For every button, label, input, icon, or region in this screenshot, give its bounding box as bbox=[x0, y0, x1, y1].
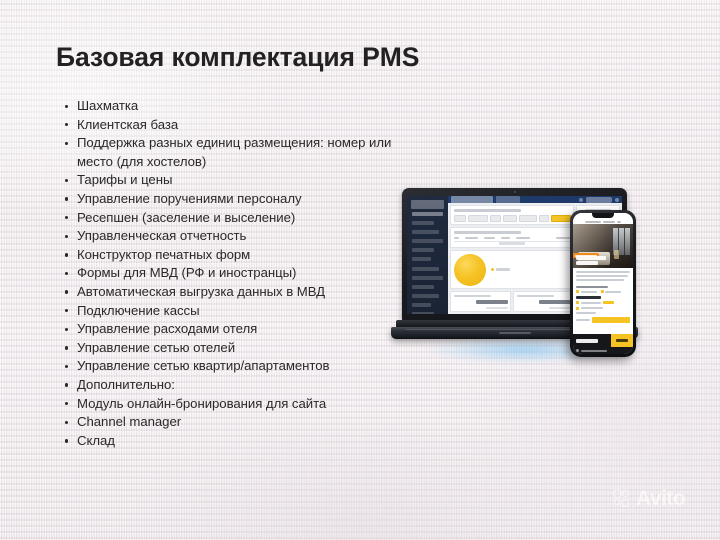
guests-icon bbox=[576, 290, 579, 293]
list-item: Управленческая отчетность bbox=[62, 227, 422, 246]
list-item: Ресепшен (заселение и выселение) bbox=[62, 209, 422, 228]
bookings-table[interactable] bbox=[450, 227, 574, 248]
list-item-label: Управление сетью отелей bbox=[77, 340, 235, 355]
column-header[interactable] bbox=[556, 237, 571, 240]
legend-swatch-icon bbox=[491, 268, 494, 271]
avito-watermark: Avito bbox=[613, 489, 685, 509]
list-item: Тарифы и цены bbox=[62, 171, 422, 190]
filter-chip[interactable] bbox=[468, 215, 488, 222]
list-item-label: Управление расходами отеля bbox=[77, 321, 257, 336]
bullet-icon bbox=[65, 309, 68, 312]
bullet-icon bbox=[65, 328, 68, 331]
revenue-pie-card[interactable] bbox=[450, 250, 574, 289]
bullet-icon bbox=[65, 402, 68, 405]
tag-icon bbox=[576, 349, 579, 352]
column-header[interactable] bbox=[516, 237, 530, 240]
list-item-label: Конструктор печатных форм bbox=[77, 247, 250, 262]
fact-label bbox=[605, 291, 621, 293]
room-facts-row bbox=[576, 290, 630, 293]
device-mockup-scene bbox=[396, 188, 652, 368]
booking-details bbox=[573, 268, 633, 334]
bullet-icon bbox=[65, 235, 68, 238]
list-item: Дополнительно: bbox=[62, 376, 422, 395]
sidebar-item[interactable] bbox=[412, 248, 434, 252]
chevron-down-icon[interactable] bbox=[617, 221, 621, 224]
slide-canvas: Базовая комплектация PMS Шахматка Клиент… bbox=[0, 0, 720, 540]
list-item-label: Клиентская база bbox=[77, 117, 178, 132]
legend-entry bbox=[491, 268, 510, 271]
list-item-label: Управление поручениями персоналу bbox=[77, 191, 302, 206]
date-field-label bbox=[576, 312, 596, 314]
total-price bbox=[573, 339, 611, 343]
room-title-overlay bbox=[576, 256, 606, 266]
legend-label bbox=[496, 268, 510, 271]
phone-notch bbox=[592, 213, 614, 218]
list-item-label: Шахматка bbox=[77, 98, 138, 113]
room-title-line bbox=[576, 256, 606, 260]
filter-panel[interactable] bbox=[450, 205, 574, 225]
list-item-label: Тарифы и цены bbox=[77, 172, 172, 187]
list-item: Управление сетью отелей bbox=[62, 339, 422, 358]
description-line bbox=[576, 271, 630, 273]
list-item: Поддержка разных единиц размещения: номе… bbox=[62, 134, 422, 171]
sidebar-item[interactable] bbox=[412, 312, 434, 314]
sidebar-item[interactable] bbox=[412, 294, 439, 298]
phone-screen bbox=[573, 213, 633, 354]
room-photo[interactable] bbox=[573, 224, 633, 268]
description-line bbox=[576, 279, 624, 281]
bullet-icon bbox=[65, 290, 68, 293]
list-item-label: Подключение кассы bbox=[77, 303, 200, 318]
filter-panel-title bbox=[454, 209, 522, 212]
list-item-label: Channel manager bbox=[77, 414, 181, 429]
list-item: Клиентская база bbox=[62, 116, 422, 135]
sidebar-item[interactable] bbox=[412, 230, 439, 234]
webcam-icon bbox=[514, 191, 516, 193]
pie-chart bbox=[454, 254, 486, 286]
list-item: Склад bbox=[62, 432, 422, 451]
avito-wordmark: Avito bbox=[636, 489, 685, 509]
tab-active[interactable] bbox=[451, 196, 493, 203]
bullet-icon bbox=[65, 346, 68, 349]
bullet-icon bbox=[65, 272, 68, 275]
navbar-subtitle bbox=[603, 221, 615, 224]
list-item: Подключение кассы bbox=[62, 302, 422, 321]
fact-label bbox=[581, 291, 597, 293]
date-picker-button[interactable] bbox=[592, 317, 630, 323]
search-icon[interactable] bbox=[579, 198, 583, 202]
filter-chip[interactable] bbox=[490, 215, 501, 222]
summary-card[interactable] bbox=[513, 291, 574, 312]
bullet-icon bbox=[65, 179, 68, 182]
fact-beds bbox=[601, 290, 622, 293]
logo-bubble bbox=[613, 489, 622, 498]
room-description bbox=[576, 271, 630, 283]
apply-filter-button[interactable] bbox=[551, 215, 571, 222]
filter-chip[interactable] bbox=[454, 215, 466, 222]
filter-chip[interactable] bbox=[519, 215, 537, 222]
pms-tabbar[interactable] bbox=[448, 196, 622, 203]
bullet-icon bbox=[65, 105, 68, 108]
pie-legend bbox=[491, 268, 510, 271]
price-and-cta-row bbox=[573, 334, 633, 347]
date-field-label-row bbox=[576, 312, 630, 314]
bullet-icon bbox=[65, 123, 68, 126]
navbar-title bbox=[585, 221, 601, 224]
list-item: Channel manager bbox=[62, 413, 422, 432]
table-empty-state bbox=[454, 242, 571, 245]
logo-bubble bbox=[621, 499, 629, 507]
summary-card[interactable] bbox=[450, 291, 511, 312]
sidebar-item[interactable] bbox=[412, 221, 434, 225]
lamp-detail bbox=[614, 250, 619, 259]
fact-guests bbox=[576, 290, 597, 293]
summary-subvalue bbox=[486, 307, 508, 309]
table-title bbox=[454, 231, 522, 234]
summary-label bbox=[517, 295, 555, 298]
list-item-label: Поддержка разных единиц размещения: номе… bbox=[77, 135, 391, 169]
bullet-icon bbox=[65, 383, 68, 386]
filter-chip[interactable] bbox=[539, 215, 549, 222]
sidebar-item[interactable] bbox=[412, 212, 443, 216]
summary-value bbox=[539, 300, 570, 304]
date-value bbox=[576, 319, 590, 321]
list-item-label: Дополнительно: bbox=[77, 377, 175, 392]
option-label bbox=[581, 307, 603, 309]
booking-option-row[interactable] bbox=[576, 307, 630, 310]
phone-mockup bbox=[570, 210, 636, 357]
logo-bubble bbox=[622, 490, 629, 497]
tab-secondary[interactable] bbox=[496, 196, 520, 203]
bullet-icon bbox=[65, 197, 68, 200]
bed-icon bbox=[601, 290, 604, 293]
page-title: Базовая комплектация PMS bbox=[56, 42, 419, 73]
sidebar-item[interactable] bbox=[412, 285, 434, 289]
clock-icon bbox=[576, 307, 579, 310]
bullet-icon bbox=[65, 421, 68, 424]
pms-sidebar[interactable] bbox=[407, 196, 448, 314]
bullet-icon bbox=[65, 439, 68, 442]
column-header[interactable] bbox=[501, 237, 510, 240]
sidebar-item[interactable] bbox=[412, 303, 431, 307]
pms-logo bbox=[411, 200, 444, 209]
laptop-trackpad-notch bbox=[499, 332, 531, 334]
calendar-icon bbox=[576, 301, 579, 304]
empty-state-text bbox=[499, 242, 525, 245]
book-now-button[interactable] bbox=[611, 334, 633, 347]
list-item-label: Склад bbox=[77, 433, 115, 448]
list-item: Формы для МВД (РФ и иностранцы) bbox=[62, 264, 422, 283]
list-item-label: Управление сетью квартир/апартаментов bbox=[77, 358, 329, 373]
summary-row-top bbox=[450, 291, 574, 312]
logo-bubble bbox=[614, 499, 620, 505]
book-now-label bbox=[616, 339, 628, 342]
pms-content-left bbox=[450, 205, 574, 314]
sidebar-item[interactable] bbox=[412, 267, 439, 271]
option-tag bbox=[603, 301, 614, 304]
promo-code-label bbox=[581, 350, 607, 352]
room-title-line bbox=[576, 261, 598, 265]
promo-code-row[interactable] bbox=[573, 347, 633, 354]
list-item: Управление сетью квартир/апартаментов bbox=[62, 357, 422, 376]
list-item: Автоматическая выгрузка данных в МВД bbox=[62, 283, 422, 302]
list-item-label: Формы для МВД (РФ и иностранцы) bbox=[77, 265, 296, 280]
option-label bbox=[581, 302, 601, 304]
booking-option-row[interactable] bbox=[576, 301, 630, 304]
chevron-down-icon[interactable] bbox=[615, 198, 619, 202]
list-item: Управление поручениями персоналу bbox=[62, 190, 422, 209]
sidebar-item[interactable] bbox=[412, 257, 431, 261]
list-item-label: Модуль онлайн-бронирования для сайта bbox=[77, 396, 326, 411]
column-header[interactable] bbox=[484, 237, 495, 240]
date-picker-field[interactable] bbox=[576, 317, 630, 323]
description-line bbox=[576, 275, 628, 277]
sidebar-item[interactable] bbox=[412, 239, 443, 243]
list-item: Конструктор печатных форм bbox=[62, 246, 422, 265]
summary-label bbox=[454, 295, 492, 298]
bullet-icon bbox=[65, 216, 68, 219]
show-more-link[interactable] bbox=[576, 286, 608, 288]
column-header[interactable] bbox=[454, 237, 459, 240]
summary-value bbox=[476, 300, 507, 304]
column-header[interactable] bbox=[465, 237, 478, 240]
avito-logo-icon bbox=[613, 489, 633, 509]
booking-section-title bbox=[576, 296, 601, 299]
bullet-icon bbox=[65, 365, 68, 368]
feature-list: Шахматка Клиентская база Поддержка разны… bbox=[62, 97, 422, 450]
list-item-label: Управленческая отчетность bbox=[77, 228, 246, 243]
phone-bottom-bar bbox=[573, 334, 633, 354]
bullet-icon bbox=[65, 253, 68, 256]
summary-subvalue bbox=[549, 307, 571, 309]
user-menu-button[interactable] bbox=[586, 197, 612, 203]
list-item-label: Ресепшен (заселение и выселение) bbox=[77, 210, 295, 225]
filter-chip-row bbox=[454, 215, 571, 222]
bullet-icon bbox=[65, 142, 68, 145]
filter-chip[interactable] bbox=[503, 215, 517, 222]
price-value bbox=[576, 339, 598, 343]
list-item-label: Автоматическая выгрузка данных в МВД bbox=[77, 284, 325, 299]
list-item: Модуль онлайн-бронирования для сайта bbox=[62, 395, 422, 414]
sidebar-item[interactable] bbox=[412, 276, 443, 280]
list-item: Шахматка bbox=[62, 97, 422, 116]
list-item: Управление расходами отеля bbox=[62, 320, 422, 339]
